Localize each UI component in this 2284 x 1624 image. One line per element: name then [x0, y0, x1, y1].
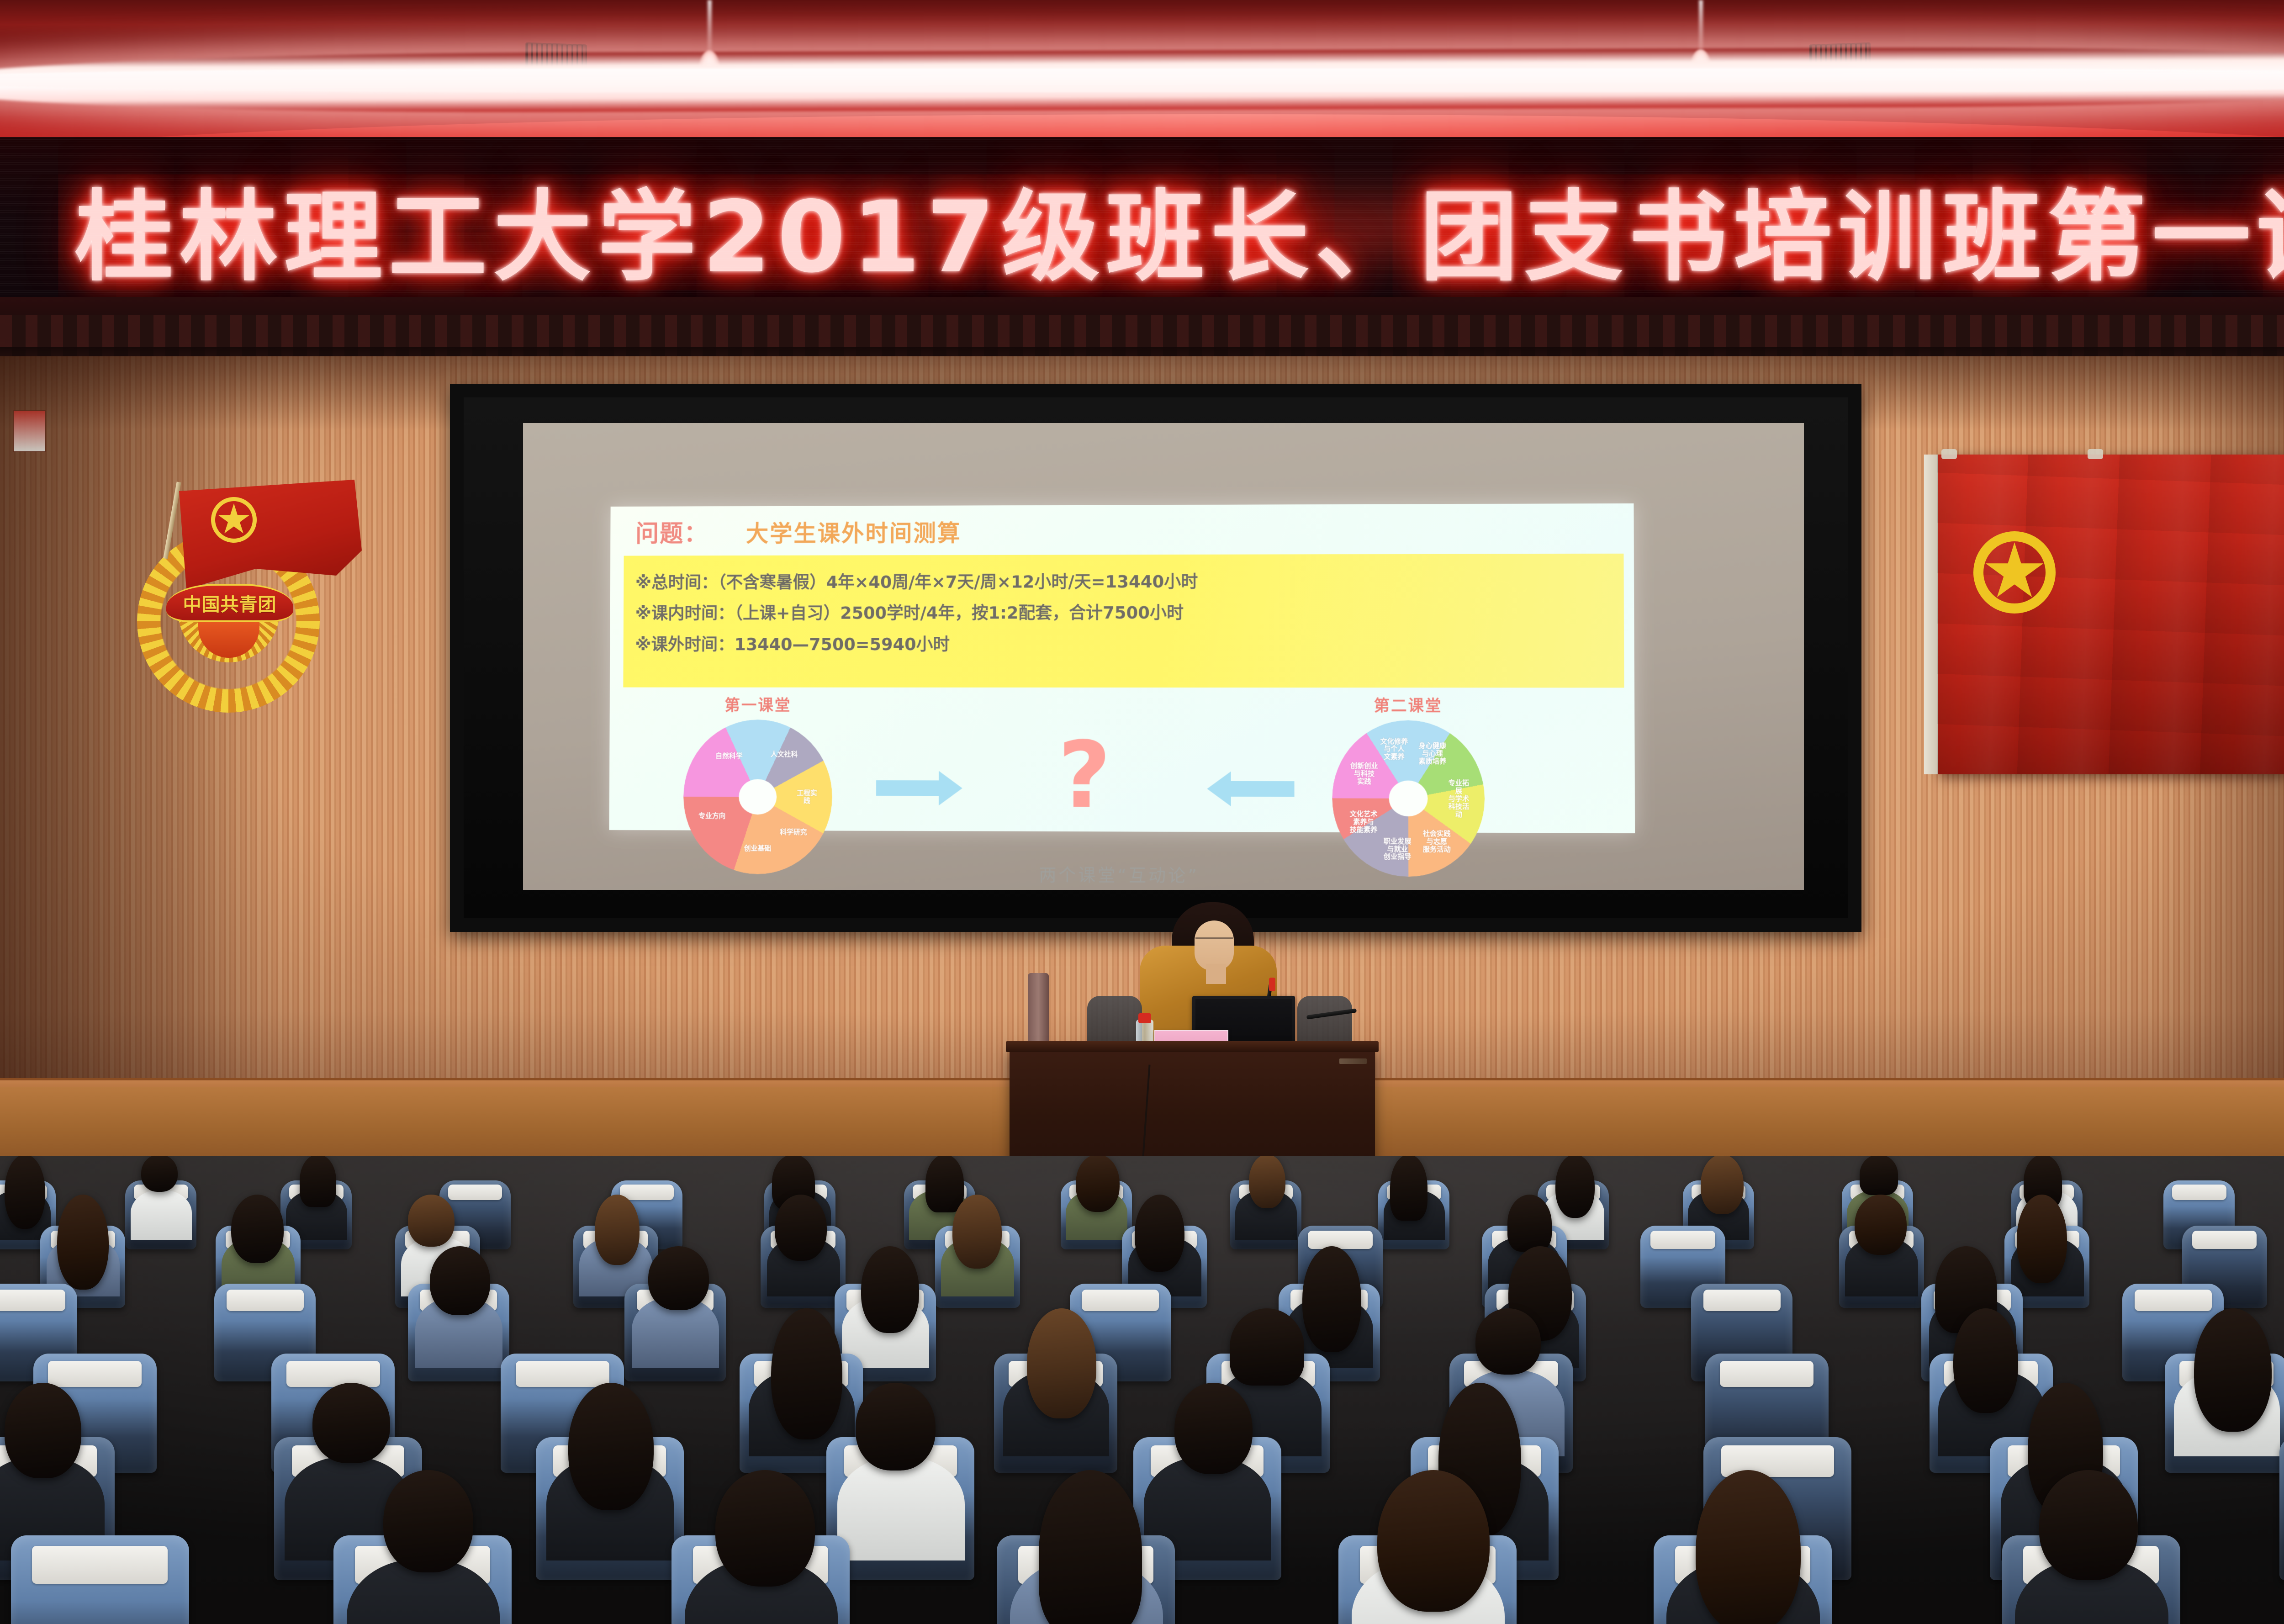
audience-member-head [1555, 1156, 1595, 1218]
audience-member-head [2039, 1470, 2138, 1580]
presentation-slide: 问题： 大学生课外时间测算 ※总时间：（不含寒暑假）4年×40周/年×7天/周×… [609, 503, 1635, 833]
flag-pin [1941, 449, 1957, 459]
pie-slice-label: 自然科学 [716, 752, 743, 760]
wall-fixture-icon [13, 410, 46, 452]
pie-title-second: 第二课堂 [1325, 693, 1491, 716]
audience-member-shoulders [131, 1190, 192, 1240]
pie-slice-label: 身心健康 与心理 素质培养 [1419, 742, 1447, 765]
seat-headrest-cover [1308, 1231, 1372, 1249]
audience-member-head [1701, 1156, 1744, 1214]
slide-bullet-box: ※总时间：（不含寒暑假）4年×40周/年×7天/周×12小时/天=13440小时… [624, 554, 1624, 688]
audience-member-head [1249, 1156, 1285, 1208]
led-banner: 桂林理工大学2017级班长、团支书培训班第一讲 [0, 137, 2284, 320]
audience-member-head [1076, 1156, 1119, 1212]
audience-member-head [57, 1195, 108, 1290]
seat-headrest-cover [516, 1361, 609, 1387]
audience-member-head [408, 1195, 454, 1247]
communist-youth-league-emblem-icon: 中国共青团 [124, 461, 380, 717]
seat-headrest-cover [2192, 1231, 2257, 1249]
speaker-neck [1206, 964, 1226, 984]
seat-headrest-cover [286, 1361, 380, 1387]
seat-headrest-cover [1720, 1361, 1813, 1387]
arrow-right-head [939, 771, 962, 806]
pie-slice-label: 创新创业 与科技 实践 [1351, 762, 1379, 785]
slide-caption: 两个课堂“互动论” [1039, 861, 1200, 887]
audience-member-head [312, 1383, 390, 1463]
lecture-hall-scene: 桂林理工大学2017级班长、团支书培训班第一讲 中国共青团 [0, 0, 2284, 1624]
seat-headrest-cover [448, 1185, 502, 1200]
pie-body-first: 人文社科工程实践科学研究创业基础专业方向自然科学 [683, 719, 833, 874]
slide-bullet: ※总时间：（不含寒暑假）4年×40周/年×7天/周×12小时/天=13440小时 [635, 566, 1611, 598]
slide-title-prefix: 问题： [636, 514, 708, 549]
pie-slice-label: 文化修养 与个人 文素养 [1380, 737, 1408, 761]
seat-headrest-cover [0, 1290, 65, 1311]
pie-body-second: 身心健康 与心理 素质培养专业拓展 与学术 科技活动社会实践 与志愿 服务活动职… [1332, 720, 1485, 877]
led-banner-text: 桂林理工大学2017级班长、团支书培训班第一讲 [0, 158, 2284, 300]
flag-mount-pins [1937, 449, 2284, 459]
spotlight-beam-right [1699, 0, 1703, 55]
lectern-logo [1339, 1058, 1367, 1064]
pie-slice-label: 创业基础 [744, 844, 771, 852]
slide-pie-charts: 第一课堂 人文社科工程实践科学研究创业基础专业方向自然科学 ? [623, 693, 1625, 883]
communist-youth-league-flag-icon [1937, 455, 2284, 774]
audience-member-head [925, 1156, 964, 1212]
question-mark-icon: ? [1058, 730, 1111, 821]
seat-headrest-cover [32, 1546, 167, 1584]
pie-center-hole [1389, 781, 1428, 817]
arrow-right-body [876, 780, 940, 796]
pie-slice-label: 文化艺术 素养与 技能素养 [1350, 810, 1378, 834]
flag-hoist-strip [1924, 455, 1938, 774]
audience-member-shoulders [837, 1457, 965, 1561]
audience-member-head [5, 1156, 45, 1229]
emblem-name-ribbon: 中国共青团 [166, 584, 293, 622]
seat-headrest-cover [620, 1185, 674, 1200]
audience-member-head [1390, 1156, 1427, 1221]
audience-member-head [430, 1246, 490, 1315]
pie-interaction-group: ? [857, 711, 1314, 859]
ceiling-light-strip-core [0, 69, 2284, 92]
audience-member-head [1230, 1308, 1304, 1386]
seat-headrest-cover [2135, 1290, 2212, 1311]
slide-title-main: 大学生课外时间测算 [746, 515, 962, 548]
audience-member-head [1174, 1383, 1252, 1474]
slide-bullet: ※课内时间：（上课+自习）2500学时/4年，按1:2配套，合计7500小时 [635, 597, 1611, 629]
speaker-face [1195, 920, 1234, 971]
slide-bullet: ※课外时间：13440—7500=5940小时 [635, 629, 1612, 660]
audience-member-head [383, 1470, 473, 1572]
seat-headrest-cover [1650, 1231, 1715, 1249]
audience-member-head [952, 1195, 1002, 1269]
audience-member-head [1135, 1195, 1184, 1272]
pie-slice-label: 专业方向 [699, 812, 726, 820]
audience-member-head [1377, 1470, 1490, 1612]
audience-member-head [5, 1383, 81, 1478]
lectern-top-surface [1006, 1041, 1379, 1052]
seat-headrest-cover [227, 1290, 304, 1311]
pie-chart-second-classroom: 第二课堂 身心健康 与心理 素质培养专业拓展 与学术 科技活动社会实践 与志愿 … [1325, 693, 1492, 877]
audience-member-head [1953, 1308, 2018, 1413]
projection-screen-surface: 问题： 大学生课外时间测算 ※总时间：（不含寒暑假）4年×40周/年×7天/周×… [523, 423, 1804, 890]
emblem-name-text: 中国共青团 [183, 590, 277, 616]
audience-member-head [775, 1195, 826, 1261]
pie-slice-label: 人文社科 [771, 750, 798, 758]
audience-member-head [231, 1195, 284, 1263]
pie-center-hole [739, 779, 777, 815]
audience-member-head [2194, 1308, 2272, 1432]
arrow-left-head [1207, 772, 1231, 806]
pie-slice-label: 社会实践 与志愿 服务活动 [1423, 830, 1451, 853]
audience-member-head [2017, 1195, 2067, 1283]
audience-member-head [856, 1383, 936, 1471]
audience-area [0, 1156, 2284, 1624]
audience-member-head [1696, 1470, 1801, 1624]
seat-headrest-cover [48, 1361, 142, 1387]
water-bottle-cap [1138, 1013, 1151, 1023]
audience-member-head [1039, 1470, 1142, 1624]
pie-title-first: 第一课堂 [677, 693, 839, 715]
pie-slice-label: 专业拓展 与学术 科技活动 [1446, 779, 1472, 818]
pie-slice-label: 科学研究 [780, 828, 807, 836]
audience-member-head [1507, 1195, 1552, 1252]
audience-member-head [141, 1156, 177, 1192]
speaker-glasses-icon [1195, 937, 1233, 945]
audience-member-head [1855, 1195, 1906, 1255]
slide-title: 问题： 大学生课外时间测算 [624, 512, 1624, 549]
pie-slice-label: 职业发展 与就业 创业指导 [1384, 837, 1412, 861]
projection-screen-frame: 问题： 大学生课外时间测算 ※总时间：（不含寒暑假）4年×40周/年×7天/周×… [450, 384, 1861, 932]
auditorium-seat [11, 1535, 189, 1624]
pie-chart-first-classroom: 第一课堂 人文社科工程实践科学研究创业基础专业方向自然科学 [677, 693, 840, 875]
audience-member-head [648, 1246, 708, 1310]
arrow-left-body [1230, 781, 1295, 797]
audience-member-head [715, 1470, 815, 1587]
audience-member-head [568, 1383, 654, 1510]
seat-headrest-cover [1703, 1290, 1781, 1311]
pie-slice-label: 工程实践 [794, 789, 820, 805]
audience-member-head [595, 1195, 640, 1265]
spotlight-beam-left [708, 0, 712, 55]
audience-member-head [300, 1156, 336, 1207]
audience-member-head [1027, 1308, 1096, 1418]
auditorium-seat [2279, 1437, 2284, 1580]
audience-member-head [1302, 1246, 1361, 1352]
seat-headrest-cover [2172, 1185, 2226, 1200]
audience-member-head [771, 1308, 842, 1439]
flag-fabric-folds [1937, 455, 2284, 774]
audience-member-head [1475, 1308, 1541, 1375]
seat-headrest-cover [1082, 1290, 1159, 1311]
emblem-sun-core [198, 619, 259, 658]
microphone-indicator-light [1269, 978, 1275, 991]
ceiling-top-shadow [0, 0, 2284, 41]
flag-pin [2088, 449, 2103, 459]
audience-member-head [861, 1246, 919, 1333]
audience-member-head [1860, 1156, 1898, 1195]
